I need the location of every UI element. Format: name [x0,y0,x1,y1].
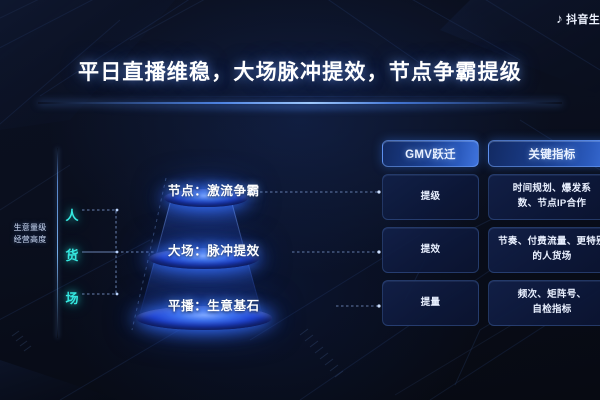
pyramid-label-daily: 平播：生意基石 [168,295,260,314]
metrics-table: GMV跃迁 关键指标 提级 时间规划、爆发系 数、节点IP合作 提效 节奏、付费… [382,140,600,333]
brand-name: 抖音生 [566,11,600,27]
page-title: 平日直播维稳，大场脉冲提效，节点争霸提级 [0,56,600,86]
axis-label-line1: 生意量级 [4,222,56,234]
axis-label-line2: 经营高度 [4,234,56,246]
title-underline-glow [38,102,562,104]
metrics-0-line2: 数、节点IP合作 [513,197,591,212]
table-cell-metrics-2: 频次、矩阵号、 自检指标 [488,280,600,326]
slide-canvas: ♪ 抖音生 平日直播维稳，大场脉冲提效，节点争霸提级 生意量级 经营高度 人 货… [0,0,600,400]
table-row: 提级 时间规划、爆发系 数、节点IP合作 [382,174,600,220]
table-cell-gmv-1: 提效 [382,227,479,273]
brand-logo: ♪ 抖音生 [556,11,600,27]
axis-vertical-bar [57,148,58,338]
table-header-key-metrics: 关键指标 [488,140,600,167]
axis-label: 生意量级 经营高度 [4,222,56,245]
table-cell-gmv-2: 提量 [382,280,479,326]
table-cell-metrics-0: 时间规划、爆发系 数、节点IP合作 [488,174,600,220]
table-cell-gmv-0: 提级 [382,174,479,220]
tier-to-table-connectors [250,186,390,316]
table-header-row: GMV跃迁 关键指标 [382,140,600,167]
pyramid-label-node: 节点：激流争霸 [168,180,260,199]
pyramid-label-bigshow: 大场：脉冲提效 [168,240,260,259]
table-row: 提量 频次、矩阵号、 自检指标 [382,280,600,326]
metrics-1-line1: 节奏、付费流量、更特别 [498,235,600,250]
metrics-2-line2: 自检指标 [518,303,587,318]
table-header-gmv: GMV跃迁 [382,140,479,167]
metrics-0-line1: 时间规划、爆发系 [513,182,591,197]
metrics-2-line1: 频次、矩阵号、 [518,288,587,303]
music-note-icon: ♪ [556,12,563,25]
metrics-1-line2: 的人货场 [498,250,600,265]
page-title-wrap: 平日直播维稳，大场脉冲提效，节点争霸提级 [0,56,600,86]
table-row: 提效 节奏、付费流量、更特别 的人货场 [382,227,600,273]
table-cell-metrics-1: 节奏、付费流量、更特别 的人货场 [488,227,600,273]
